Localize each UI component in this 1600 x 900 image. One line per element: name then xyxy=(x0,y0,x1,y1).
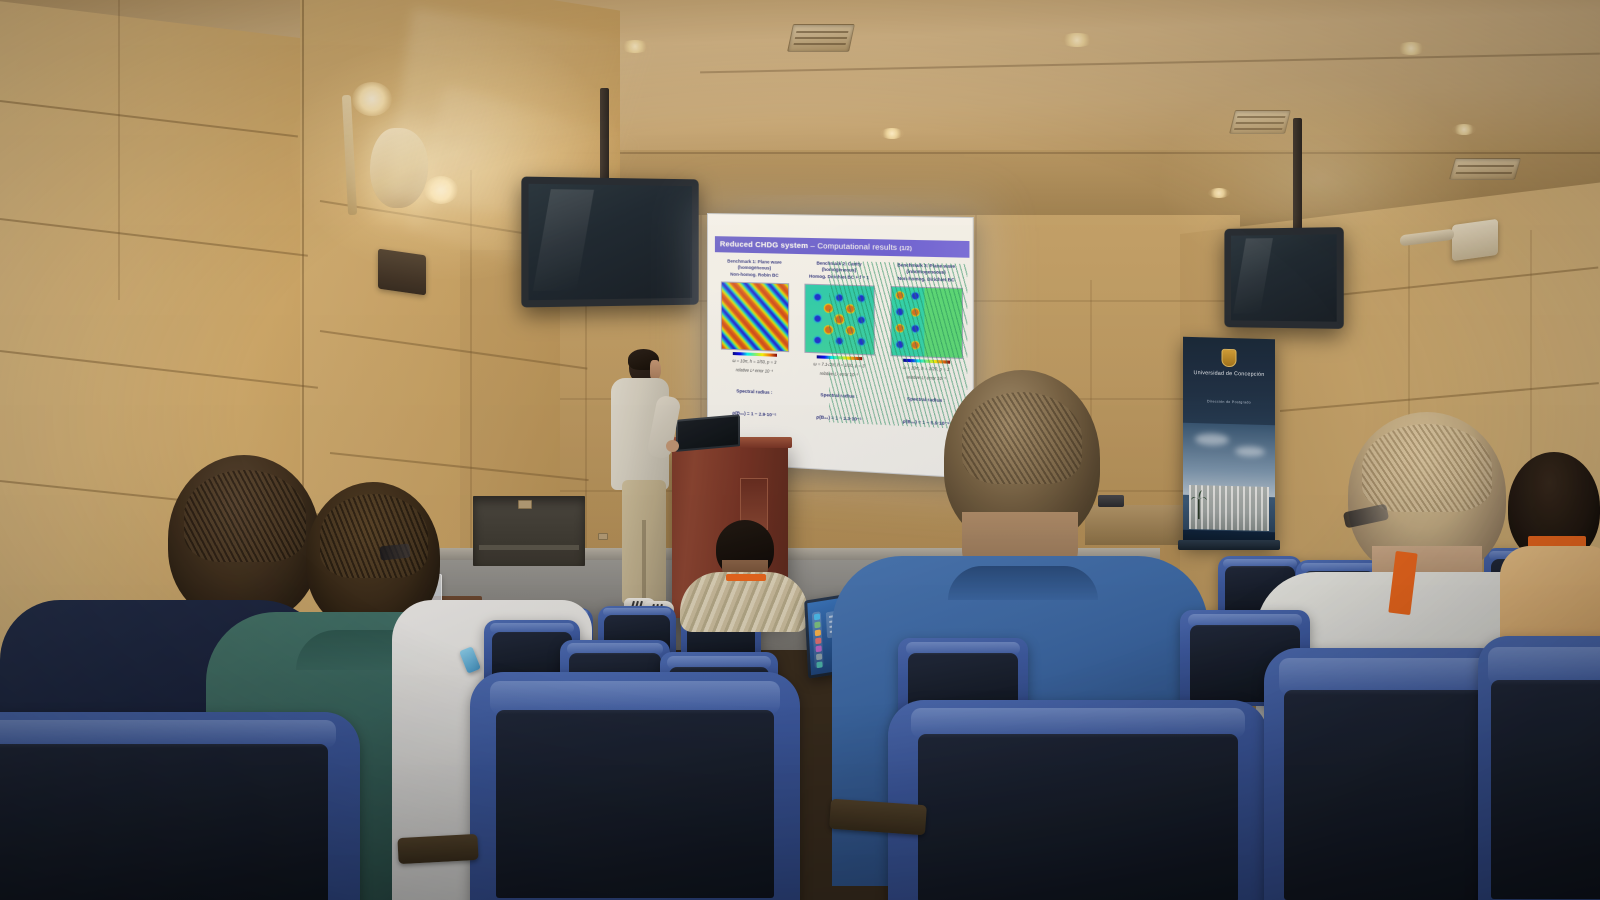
lamp-bulb-icon xyxy=(424,176,458,204)
ceiling-air-vent xyxy=(1229,110,1291,134)
av-equipment-box xyxy=(1098,495,1124,507)
ceiling-monitor-right xyxy=(1224,227,1343,329)
benchmark-params: ω = 10π, h = 1/50, p = 3 xyxy=(716,357,793,366)
benchmark-columns: Benchmark 1: Plane wave (homogeneous) No… xyxy=(716,258,967,429)
lamp-bulb-icon xyxy=(352,82,392,116)
alcove-shelf xyxy=(479,545,579,550)
presenter-laptop xyxy=(676,414,740,452)
benchmark-error: relative L² error 10⁻³ xyxy=(716,366,793,375)
benchmark-heatmap-1 xyxy=(720,281,788,352)
benchmark-boundary-condition: Non-homog. Robin BC xyxy=(716,270,793,279)
wall-panel-seam xyxy=(302,0,304,520)
presenter-hand xyxy=(666,440,679,452)
slide-title-bar: Reduced CHDG system – Computational resu… xyxy=(715,236,970,258)
ceiling-downlight xyxy=(1452,124,1476,135)
seat[interactable] xyxy=(0,712,360,900)
banner-university-name: Universidad de Concepción xyxy=(1183,370,1275,378)
attendee-torso xyxy=(680,572,808,632)
spectral-radius-label: Spectral radius : xyxy=(716,386,793,398)
lanyard xyxy=(726,574,766,581)
laptop-dock xyxy=(812,611,824,668)
lecture-hall-photo: Reduced CHDG system – Computational resu… xyxy=(0,0,1600,900)
seat[interactable] xyxy=(888,700,1268,900)
wall-panel-seam xyxy=(118,0,120,300)
seat[interactable] xyxy=(470,672,800,900)
ceiling-downlight xyxy=(1396,42,1426,55)
ceiling-air-vent xyxy=(1449,158,1521,180)
seat[interactable] xyxy=(1264,648,1514,900)
attendee-hair-texture xyxy=(320,494,428,578)
ceiling-seam xyxy=(560,152,1600,154)
tv-mount-pole xyxy=(600,88,609,184)
benchmark-heatmap-3 xyxy=(890,286,962,359)
slide-title-sub: Computational results xyxy=(817,241,897,252)
attendee-hair-texture xyxy=(1362,424,1492,512)
benchmark-column-1: Benchmark 1: Plane wave (homogeneous) No… xyxy=(716,258,793,420)
attendee-collar xyxy=(948,566,1098,600)
power-outlet xyxy=(598,533,608,540)
presenter-face-profile xyxy=(650,360,661,380)
wall-panel-seam xyxy=(470,170,472,590)
slide-title-main: Reduced CHDG system xyxy=(720,239,808,250)
benchmark-column-3: Benchmark 3: Plane wave (inhomogeneous) … xyxy=(885,262,967,429)
ceiling-monitor-left xyxy=(521,177,698,308)
ceiling-air-vent xyxy=(787,24,855,52)
wall-speaker xyxy=(378,249,426,296)
presenter-leg-separation xyxy=(642,520,646,600)
colorbar xyxy=(732,352,776,357)
ceiling-downlight xyxy=(1060,33,1094,47)
ceiling-downlight xyxy=(620,40,650,53)
attendee-hair-texture xyxy=(184,470,306,562)
tv-mount-pole xyxy=(1293,118,1302,230)
university-crest-icon xyxy=(1222,349,1237,367)
banner-base-stand xyxy=(1178,540,1280,550)
palm-tree-icon xyxy=(1191,489,1207,519)
back-side-table xyxy=(1085,505,1185,545)
university-rollup-banner: Universidad de Concepción Dirección de P… xyxy=(1183,337,1275,547)
wall-lamp-fixture xyxy=(370,128,428,208)
banner-subtitle: Dirección de Postgrado xyxy=(1183,399,1275,405)
seat[interactable] xyxy=(1478,636,1600,900)
wall-speaker xyxy=(1452,219,1498,261)
ceiling-downlight xyxy=(1208,188,1230,198)
slide-title-dash: – xyxy=(808,241,817,250)
attendee-hair-texture xyxy=(962,392,1082,484)
seat-armrest xyxy=(397,834,478,864)
ceiling-downlight xyxy=(880,128,904,139)
power-outlet xyxy=(518,500,532,509)
slide-page-marker: (1/2) xyxy=(899,246,912,252)
